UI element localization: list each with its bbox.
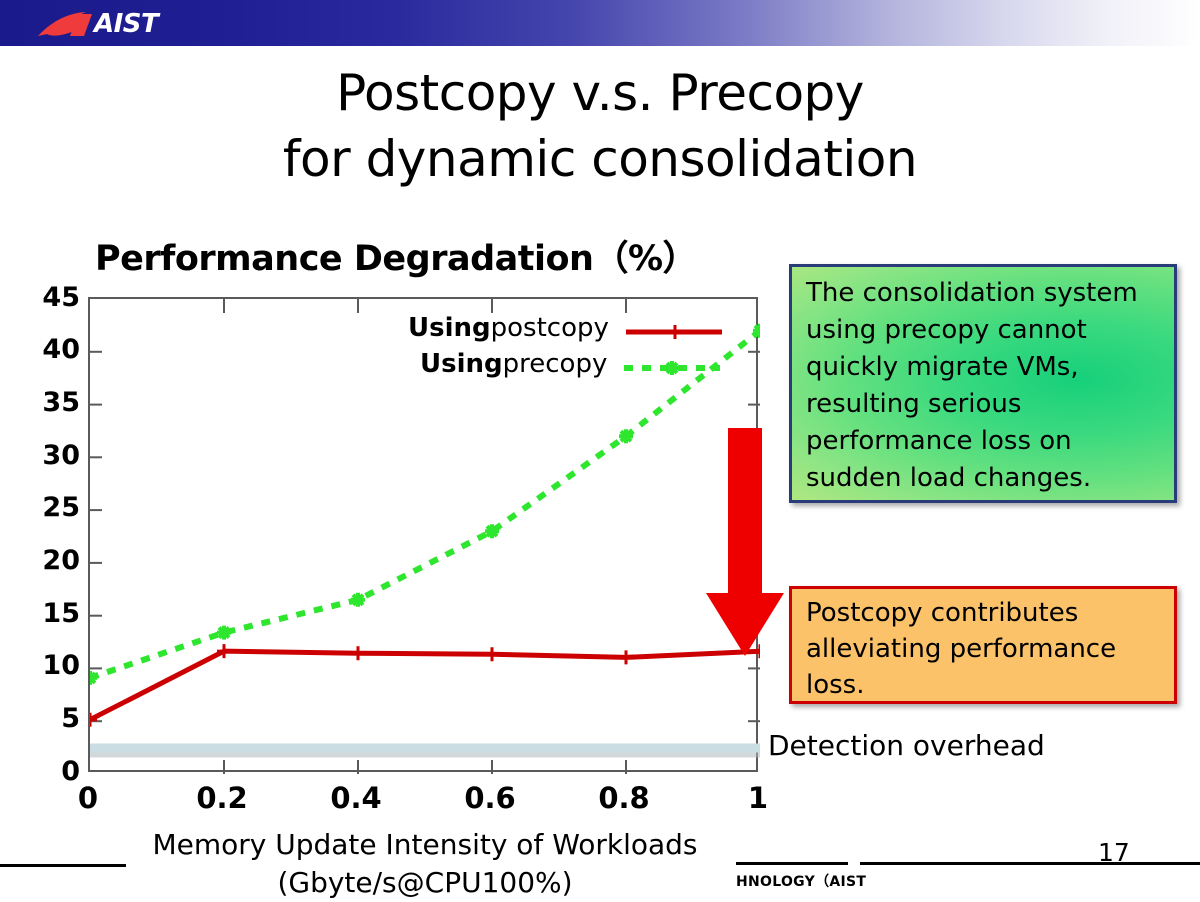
callout-orange-text: Postcopy contributes alleviating perform… <box>806 595 1168 703</box>
x-tick-0: 0 <box>48 784 128 813</box>
y-tick-5: 5 <box>20 705 80 732</box>
x-axis-title-line2: (Gbyte/s@CPU100%) <box>60 864 790 902</box>
y-axis-tick-labels: 45 40 35 30 25 20 15 10 5 0 <box>20 0 80 900</box>
legend-precopy-strong: Using <box>420 349 503 379</box>
x-axis-ticks-top <box>224 299 626 313</box>
improvement-arrow-icon <box>706 428 784 658</box>
detection-overhead-label: Detection overhead <box>768 729 1045 762</box>
legend-precopy-label: precopy <box>503 349 608 379</box>
header-banner: AIST <box>0 0 1200 46</box>
x-axis-title-line1: Memory Update Intensity of Workloads <box>60 826 790 864</box>
x-axis-title: Memory Update Intensity of Workloads (Gb… <box>60 826 790 902</box>
callout-green-text: The consolidation system using precopy c… <box>806 275 1166 497</box>
footer-rule-right <box>860 862 1200 865</box>
x-tick-0.4: 0.4 <box>316 784 396 813</box>
y-tick-15: 15 <box>20 600 80 627</box>
legend-precopy-swatch <box>622 358 722 378</box>
y-tick-35: 35 <box>20 389 80 416</box>
footer-rule-left <box>0 864 126 867</box>
page-title-line1: Postcopy v.s. Precopy <box>0 60 1200 126</box>
y-tick-40: 40 <box>20 336 80 363</box>
legend-postcopy-label: postcopy <box>491 313 609 343</box>
y-tick-45: 45 <box>20 284 80 311</box>
legend-postcopy-strong: Using <box>408 313 491 343</box>
y-tick-30: 30 <box>20 442 80 469</box>
legend-postcopy-swatch <box>624 322 724 342</box>
y-tick-25: 25 <box>20 494 80 521</box>
y-tick-10: 10 <box>20 652 80 679</box>
y-tick-0: 0 <box>20 758 80 785</box>
callout-orange: Postcopy contributes alleviating perform… <box>789 586 1177 704</box>
aist-logo-text: AIST <box>94 10 158 38</box>
footer-rule-middle <box>736 862 848 865</box>
y-axis-ticks <box>90 352 102 721</box>
y-tick-20: 20 <box>20 547 80 574</box>
x-tick-0.2: 0.2 <box>182 784 262 813</box>
legend-item-postcopy: Usingpostcopy <box>408 313 724 347</box>
x-axis-ticks <box>224 760 626 774</box>
chart-plot-area: Usingpostcopy Usingprecopy <box>88 297 758 772</box>
page-title: Postcopy v.s. Precopy for dynamic consol… <box>0 60 1200 192</box>
legend-item-precopy: Usingprecopy <box>420 349 722 383</box>
detection-overhead-band <box>90 744 760 758</box>
footer-organization: HNOLOGY（AIST <box>736 871 866 891</box>
chart-title: Performance Degradation（%） <box>95 230 697 281</box>
series-postcopy <box>90 644 760 727</box>
callout-green: The consolidation system using precopy c… <box>789 264 1177 503</box>
x-tick-0.8: 0.8 <box>584 784 664 813</box>
page-title-line2: for dynamic consolidation <box>0 126 1200 192</box>
x-tick-1: 1 <box>718 784 798 813</box>
page-number: 17 <box>1098 838 1130 867</box>
x-tick-0.6: 0.6 <box>450 784 530 813</box>
